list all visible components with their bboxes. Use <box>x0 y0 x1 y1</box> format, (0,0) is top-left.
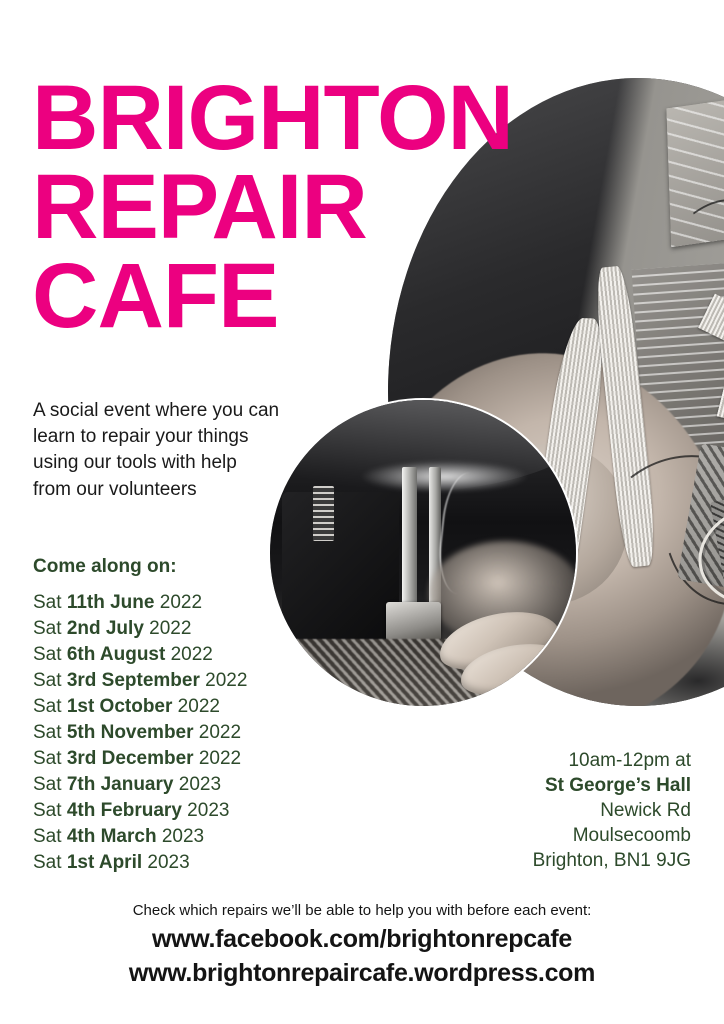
date-weekday: Sat <box>33 826 67 847</box>
date-daymonth: 1st October <box>67 696 173 717</box>
dates-heading: Come along on: <box>33 556 177 578</box>
date-year: 2022 <box>200 670 248 691</box>
date-daymonth: 7th January <box>67 774 174 795</box>
date-item: Sat 3rd September 2022 <box>33 668 247 694</box>
dates-list: Sat 11th June 2022 Sat 2nd July 2022 Sat… <box>33 590 247 876</box>
date-weekday: Sat <box>33 696 67 717</box>
venue-street: Newick Rd <box>533 798 691 823</box>
date-daymonth: 4th February <box>67 800 182 821</box>
date-year: 2022 <box>144 618 192 639</box>
date-item: Sat 5th November 2022 <box>33 720 247 746</box>
date-year: 2022 <box>194 722 242 743</box>
machine-body <box>282 492 398 645</box>
date-daymonth: 11th June <box>67 592 155 613</box>
date-weekday: Sat <box>33 748 67 769</box>
date-weekday: Sat <box>33 592 67 613</box>
date-weekday: Sat <box>33 852 67 873</box>
date-weekday: Sat <box>33 618 67 639</box>
date-item: Sat 1st April 2023 <box>33 850 247 876</box>
footer-check-line: Check which repairs we’ll be able to hel… <box>0 900 724 922</box>
date-weekday: Sat <box>33 722 67 743</box>
subtitle-line-3: using our tools with help <box>33 450 323 476</box>
date-weekday: Sat <box>33 644 67 665</box>
title-line-2: REPAIR <box>32 163 513 252</box>
venue-time: 10am-12pm at <box>533 748 691 773</box>
venue-area: Moulsecoomb <box>533 823 691 848</box>
footer-facebook-url[interactable]: www.facebook.com/brightonrepcafe <box>0 922 724 956</box>
poster-title: BRIGHTON REPAIR CAFE <box>32 74 513 342</box>
subtitle-line-4: from our volunteers <box>33 477 323 503</box>
date-item: Sat 6th August 2022 <box>33 642 247 668</box>
title-line-1: BRIGHTON <box>32 74 513 163</box>
date-item: Sat 11th June 2022 <box>33 590 247 616</box>
subtitle-line-1: A social event where you can <box>33 398 323 424</box>
date-daymonth: 2nd July <box>67 618 144 639</box>
date-item: Sat 3rd December 2022 <box>33 746 247 772</box>
date-item: Sat 4th March 2023 <box>33 824 247 850</box>
date-daymonth: 4th March <box>67 826 157 847</box>
title-line-3: CAFE <box>32 252 513 341</box>
date-item: Sat 1st October 2022 <box>33 694 247 720</box>
needle-bar <box>402 467 417 614</box>
date-year: 2022 <box>172 696 220 717</box>
subtitle-line-2: learn to repair your things <box>33 424 323 450</box>
date-year: 2022 <box>194 748 242 769</box>
date-daymonth: 5th November <box>67 722 194 743</box>
date-year: 2023 <box>173 774 221 795</box>
date-daymonth: 3rd September <box>67 670 200 691</box>
date-daymonth: 1st April <box>67 852 142 873</box>
date-year: 2023 <box>157 826 205 847</box>
venue-name: St George’s Hall <box>533 773 691 798</box>
machine-highlight <box>362 461 527 492</box>
date-daymonth: 6th August <box>67 644 166 665</box>
date-daymonth: 3rd December <box>67 748 194 769</box>
footer-block: Check which repairs we’ll be able to hel… <box>0 900 724 990</box>
poster-canvas: BRIGHTON REPAIR CAFE A social event wher… <box>0 0 724 1024</box>
date-item: Sat 7th January 2023 <box>33 772 247 798</box>
footer-wordpress-url[interactable]: www.brightonrepaircafe.wordpress.com <box>0 956 724 990</box>
venue-city-postcode: Brighton, BN1 9JG <box>533 848 691 873</box>
date-year: 2023 <box>142 852 190 873</box>
date-item: Sat 4th February 2023 <box>33 798 247 824</box>
date-weekday: Sat <box>33 670 67 691</box>
date-item: Sat 2nd July 2022 <box>33 616 247 642</box>
date-weekday: Sat <box>33 774 67 795</box>
date-year: 2022 <box>154 592 202 613</box>
date-year: 2022 <box>165 644 213 665</box>
poster-subtitle: A social event where you can learn to re… <box>33 398 323 503</box>
venue-block: 10am-12pm at St George’s Hall Newick Rd … <box>533 748 691 873</box>
date-weekday: Sat <box>33 800 67 821</box>
date-year: 2023 <box>182 800 230 821</box>
